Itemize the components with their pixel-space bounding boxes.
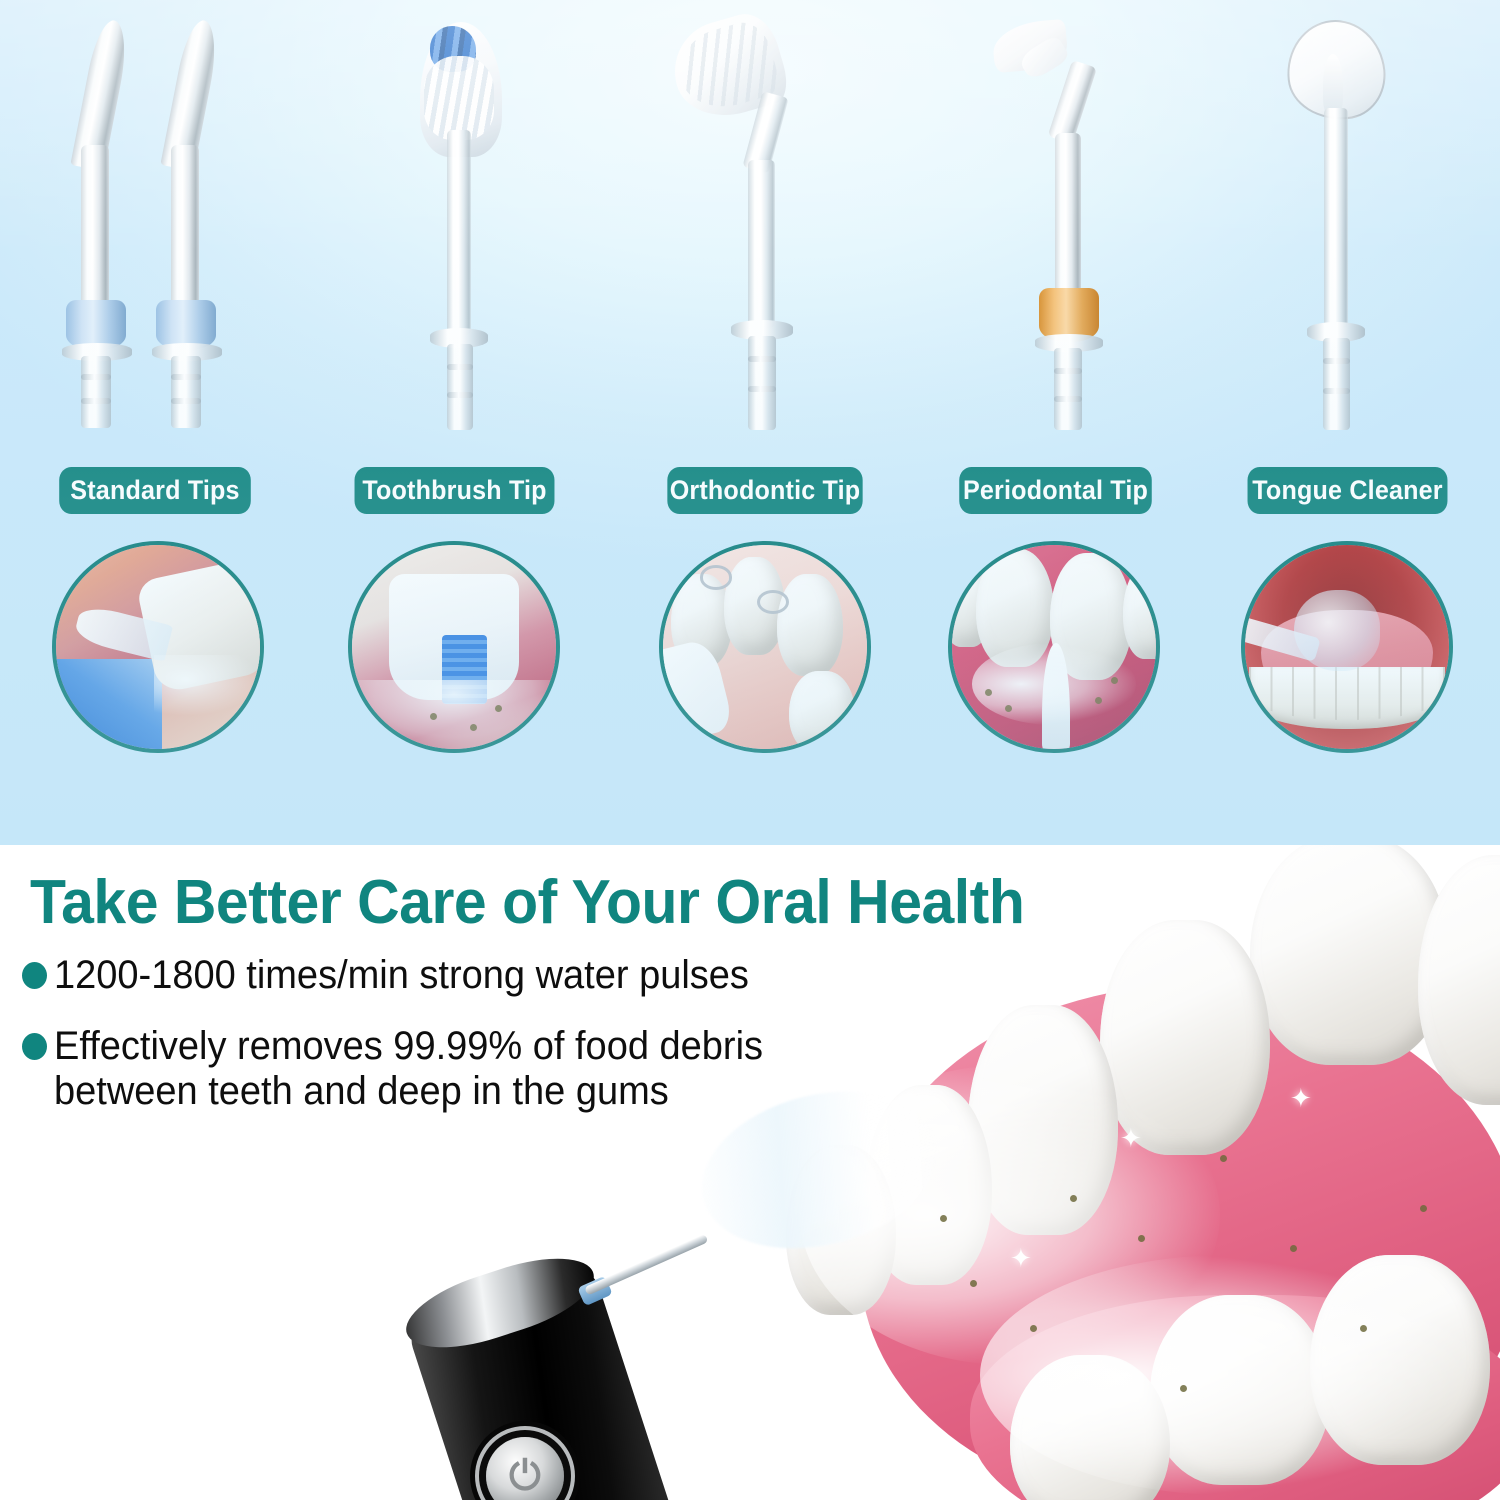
connector-base (1054, 348, 1082, 430)
sparkle-icon: ✦ (1010, 1245, 1032, 1271)
tips-showcase-panel: Standard Tips Toothbrush Tip Orthodontic… (0, 0, 1500, 845)
connector-base (171, 356, 201, 428)
photo-periodontal-tip[interactable] (948, 541, 1160, 753)
food-debris (1420, 1205, 1427, 1212)
nozzle-shaft (1048, 60, 1097, 144)
connector-base (1323, 338, 1350, 430)
label-standard-tips[interactable]: Standard Tips (59, 467, 251, 514)
nozzle-shaft (1324, 108, 1348, 328)
scraper-center-rib (1323, 54, 1343, 116)
photo-tongue-cleaner[interactable] (1241, 541, 1453, 753)
photo-image (663, 545, 867, 749)
label-toothbrush-tip[interactable]: Toothbrush Tip (355, 467, 555, 514)
base-ring (447, 364, 473, 370)
photo-image (952, 545, 1156, 749)
label-tongue-cleaner[interactable]: Tongue Cleaner (1248, 467, 1448, 514)
base-ring (81, 374, 111, 380)
label-periodontal-tip[interactable]: Periodontal Tip (959, 467, 1152, 514)
sparkle-icon: ✦ (1290, 1085, 1312, 1111)
bullet-dot-icon (22, 962, 47, 989)
photo-standard-tips[interactable] (52, 541, 264, 753)
food-debris (1030, 1325, 1037, 1332)
base-ring (447, 392, 473, 398)
tip-tongue-cleaner[interactable] (1275, 0, 1425, 450)
benefit-text: Effectively removes 99.99% of food debri… (54, 1024, 814, 1114)
food-debris (970, 1280, 977, 1287)
tip-periodontal-tip[interactable] (985, 0, 1135, 450)
label-orthodontic-tip[interactable]: Orthodontic Tip (667, 467, 862, 514)
base-ring (1323, 388, 1350, 394)
connector-base (81, 356, 111, 428)
base-ring (1054, 368, 1082, 374)
base-ring (171, 374, 201, 380)
base-ring (81, 398, 111, 404)
base-ring (748, 386, 776, 392)
bristle-white-field (424, 56, 494, 140)
standard-nozzle-a (48, 0, 144, 430)
device-nozzle (586, 1235, 736, 1345)
photo-image (1245, 545, 1449, 749)
photo-image (56, 545, 260, 749)
food-debris (1290, 1245, 1297, 1252)
photo-orthodontic-tip[interactable] (659, 541, 871, 753)
connector-base (447, 344, 473, 430)
tip-orthodontic-tip[interactable] (670, 0, 830, 450)
base-ring (171, 398, 201, 404)
power-icon: ⏻ (486, 1437, 564, 1500)
nozzle-shaft (584, 1234, 708, 1296)
tip-toothbrush-tip[interactable] (398, 0, 528, 450)
benefit-text: 1200-1800 times/min strong water pulses (54, 953, 749, 998)
food-debris (1180, 1385, 1187, 1392)
base-ring (1323, 358, 1350, 364)
list-item: Effectively removes 99.99% of food debri… (22, 1024, 922, 1114)
food-debris (1220, 1155, 1227, 1162)
connector-base (748, 336, 776, 430)
benefit-list: 1200-1800 times/min strong water pulses … (22, 953, 922, 1139)
tip-standard-tips[interactable] (40, 0, 260, 450)
base-ring (748, 356, 776, 362)
sparkle-icon: ✦ (1120, 1125, 1142, 1151)
base-ring (1054, 396, 1082, 402)
benefits-panel: ✦ ✦ ✦ ⏻ Take Better Care of Your Oral He… (0, 845, 1500, 1500)
standard-nozzle-b (138, 0, 234, 430)
food-debris (1360, 1325, 1367, 1332)
nozzle-shaft (748, 160, 775, 328)
photo-toothbrush-tip[interactable] (348, 541, 560, 753)
bullet-dot-icon (22, 1033, 47, 1060)
food-debris (1138, 1235, 1145, 1242)
page-title: Take Better Care of Your Oral Health (30, 867, 1024, 938)
nozzle-tips-row (0, 0, 1500, 450)
nozzle-shaft (171, 145, 199, 325)
food-debris (1070, 1195, 1077, 1202)
photo-image (352, 545, 556, 749)
food-debris (940, 1215, 947, 1222)
water-flosser-device[interactable]: ⏻ (390, 1225, 720, 1500)
nozzle-shaft (447, 130, 471, 335)
nozzle-shaft (81, 145, 109, 325)
power-button[interactable]: ⏻ (486, 1437, 564, 1500)
list-item: 1200-1800 times/min strong water pulses (22, 953, 922, 998)
nozzle-shaft (1055, 133, 1081, 310)
water-spray (980, 1255, 1480, 1495)
